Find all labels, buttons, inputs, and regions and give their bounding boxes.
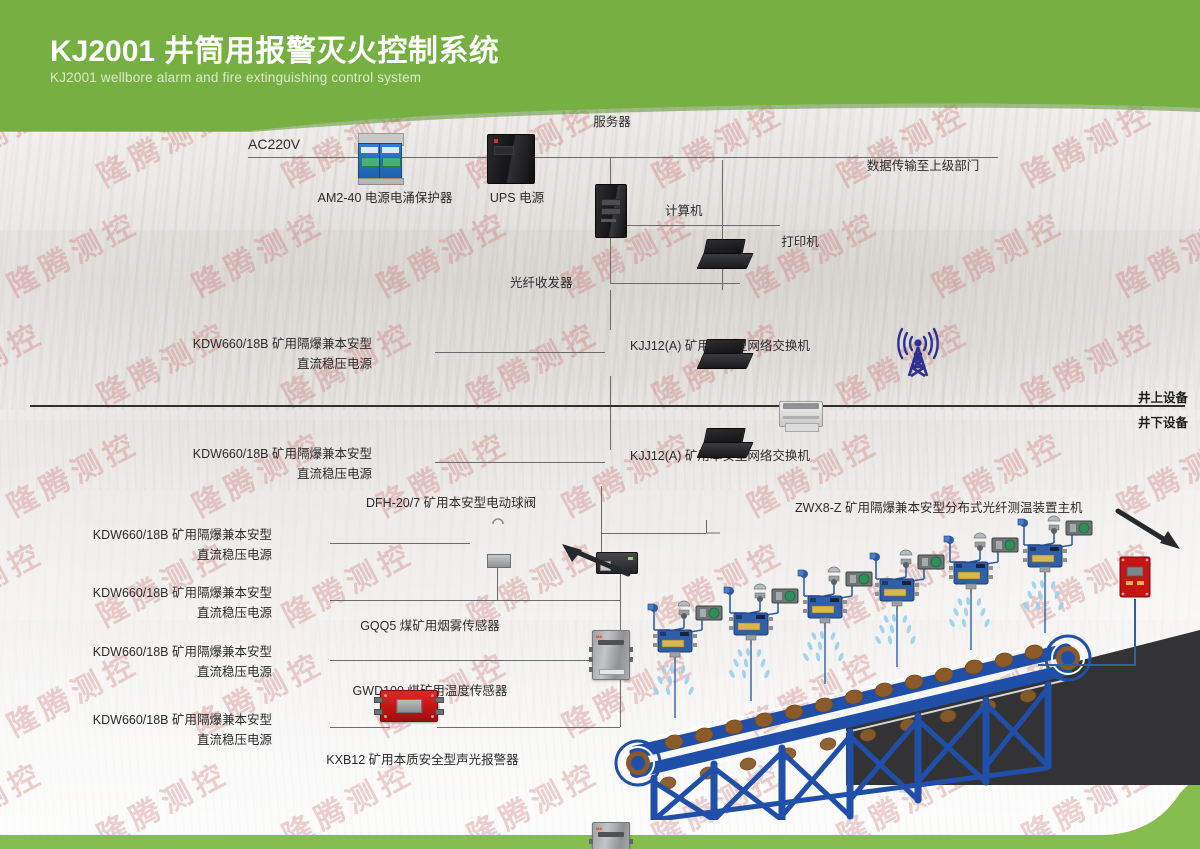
ups-label: UPS 电源 <box>462 190 572 207</box>
surface-psu-label-l2: 直流稳压电源 <box>160 356 372 373</box>
laptop-device-3[interactable] <box>700 428 748 458</box>
alarm-link <box>437 727 620 728</box>
ac-input-label: AC220V <box>248 136 300 153</box>
alarm-label: KXB12 矿用本质安全型声光报警器 <box>300 752 545 769</box>
printer-link-line <box>740 225 780 226</box>
ug-psu3-label-l1: KDW660/18B 矿用隔爆兼本安型 <box>55 585 272 602</box>
fiber-transceiver-label: 光纤收发器 <box>510 275 573 292</box>
antenna-icon <box>890 320 946 378</box>
ground-divider <box>30 405 1185 407</box>
server-device[interactable] <box>595 184 627 238</box>
ug-psu3-link <box>330 600 620 601</box>
spd-device[interactable] <box>358 133 402 185</box>
divider-label-below: 井下设备 <box>1138 412 1188 431</box>
fiber-to-switch-line <box>610 290 611 330</box>
laptop-device-1[interactable] <box>700 239 748 269</box>
server-label: 服务器 <box>572 114 652 131</box>
divider-label-above: 井上设备 <box>1138 387 1188 406</box>
fiber-bus-line <box>610 283 740 284</box>
end-controller-device[interactable] <box>1118 555 1152 599</box>
surface-to-underground-line <box>610 376 611 450</box>
printer-label: 打印机 <box>757 234 843 251</box>
ug-psu3-label-l2: 直流稳压电源 <box>55 605 272 622</box>
laptop-device-2[interactable] <box>700 339 748 369</box>
ug-psu2-link <box>330 543 470 544</box>
ug-psu1-link <box>435 462 605 463</box>
sprinkler-cluster-6[interactable] <box>1010 515 1114 633</box>
ug-psu4-link <box>330 660 620 661</box>
surface-psu-link <box>435 352 605 353</box>
diagram-canvas: 隆腾测控隆腾测控隆腾测控隆腾测控隆腾测控隆腾测控隆腾测控隆腾测控隆腾测控隆腾测控… <box>0 0 1200 849</box>
ball-valve-actuator <box>487 554 511 568</box>
ug-psu4-label-l2: 直流稳压电源 <box>55 664 272 681</box>
ug-psu5-label-l2: 直流稳压电源 <box>55 732 272 749</box>
printer-device[interactable] <box>779 401 823 427</box>
spd-label: AM2-40 电源电涌保护器 <box>305 190 465 207</box>
ug-psu1-label-l2: 直流稳压电源 <box>160 466 372 483</box>
ball-valve-label: DFH-20/7 矿用本安型电动球阀 <box>366 495 536 512</box>
surface-psu-device[interactable] <box>380 690 438 722</box>
ug-psu5-label-l1: KDW660/18B 矿用隔爆兼本安型 <box>55 712 272 729</box>
smoke-sensor-label: GQQ5 煤矿用烟雾传感器 <box>340 618 520 635</box>
ug-psu2-label-l2: 直流稳压电源 <box>55 547 272 564</box>
ug-switch-device[interactable]: MA <box>592 822 630 849</box>
laptop-stack-line <box>722 160 723 290</box>
computer-bus-line <box>610 225 740 226</box>
ug-psu2-label-l1: KDW660/18B 矿用隔爆兼本安型 <box>55 527 272 544</box>
ball-valve-handle <box>491 512 505 522</box>
uplink-label: 数据传输至上级部门 <box>848 158 998 175</box>
end-controller-pole <box>1134 599 1136 665</box>
ug-psu5-link <box>330 727 390 728</box>
diagram-layer: 井上设备 井下设备 AC220V AM2-40 电源电涌保护器 UPS 电源 服… <box>0 0 1200 849</box>
surface-psu-label-l1: KDW660/18B 矿用隔爆兼本安型 <box>160 336 372 353</box>
ug-psu1-label-l1: KDW660/18B 矿用隔爆兼本安型 <box>160 446 372 463</box>
computer-label: 计算机 <box>665 203 703 220</box>
ug-psu4-label-l1: KDW660/18B 矿用隔爆兼本安型 <box>55 644 272 661</box>
ups-device[interactable] <box>487 134 535 184</box>
end-controller-feed <box>1038 664 1136 666</box>
